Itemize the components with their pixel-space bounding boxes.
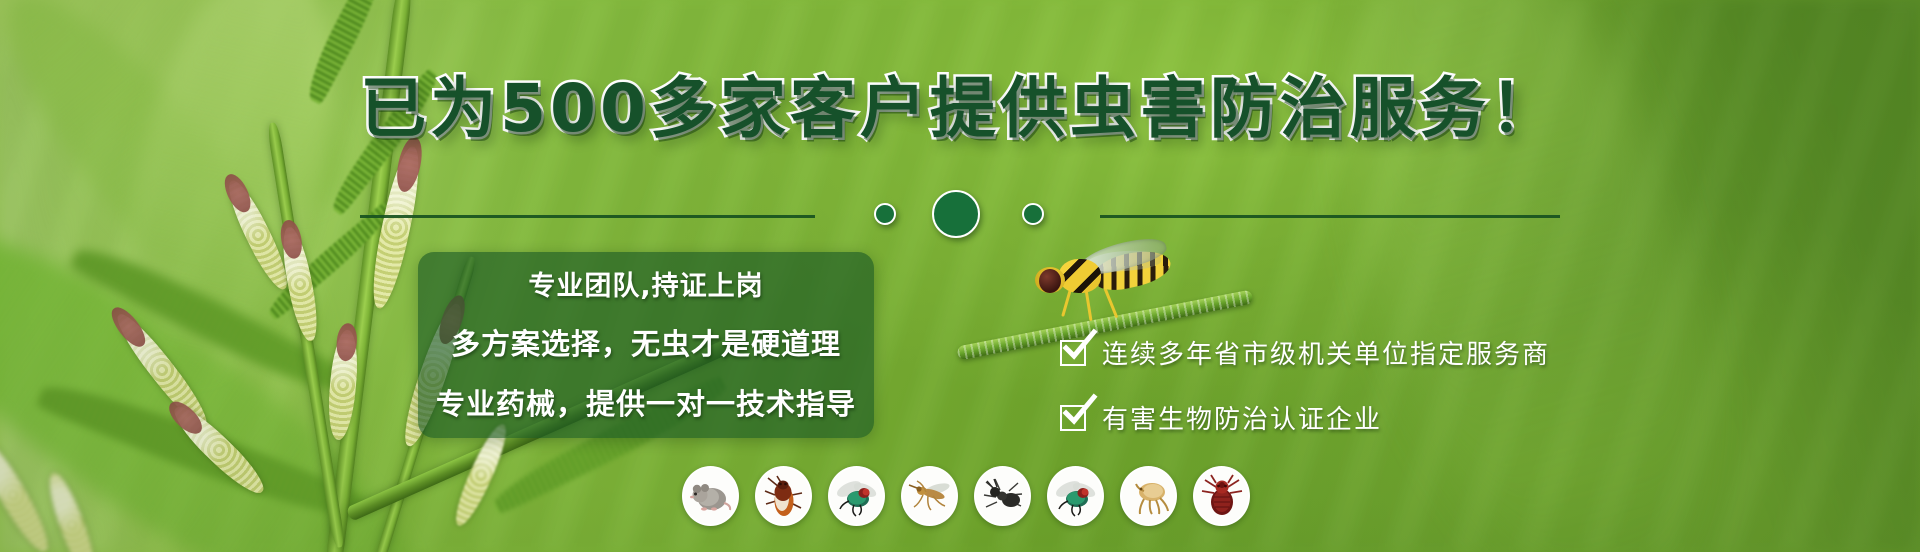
- claim-line-1: 专业团队,持证上岗: [418, 264, 874, 303]
- flea-icon[interactable]: 跳蚤: [1120, 466, 1177, 526]
- mouse-icon[interactable]: 鼠: [682, 466, 739, 526]
- divider-rule-right: [1100, 215, 1560, 218]
- divider-rule-left: [360, 215, 815, 218]
- claim-line-3: 专业药械，提供一对一技术指导: [418, 381, 874, 423]
- checkbox-check-icon: [1060, 340, 1086, 366]
- claim-line-2: 多方案选择，无虫才是硬道理: [418, 321, 874, 363]
- decorative-dots: [870, 190, 1070, 240]
- ant-icon[interactable]: 蚂蚁: [974, 466, 1031, 526]
- decor-dot-small-left: [874, 203, 896, 225]
- hoverfly-insect: [1035, 245, 1165, 315]
- checklist-item-label: 连续多年省市级机关单位指定服务商: [1102, 334, 1550, 371]
- checklist-item: 连续多年省市级机关单位指定服务商: [1060, 334, 1550, 371]
- claims-panel: 专业团队,持证上岗 多方案选择，无虫才是硬道理 专业药械，提供一对一技术指导: [418, 252, 874, 438]
- credentials-checklist: 连续多年省市级机关单位指定服务商 有害生物防治认证企业: [1060, 334, 1550, 464]
- pest-type-icon-row: 鼠 蟑螂: [682, 466, 1250, 526]
- mosquito-icon[interactable]: 蚊: [901, 466, 958, 526]
- decor-dot-large: [932, 190, 980, 238]
- pest-control-hero-banner: 已为500多家客户提供虫害防治服务！ 专业团队,持证上岗 多方案选择，无虫才是硬…: [0, 0, 1920, 552]
- checkbox-check-icon: [1060, 405, 1086, 431]
- fly-icon[interactable]: 苍蝇: [828, 466, 885, 526]
- decor-dot-small-right: [1022, 203, 1044, 225]
- checklist-item-label: 有害生物防治认证企业: [1102, 399, 1382, 436]
- checklist-item: 有害生物防治认证企业: [1060, 399, 1550, 436]
- banner-headline: 已为500多家客户提供虫害防治服务！: [0, 76, 1920, 142]
- fly-icon-2[interactable]: 苍蝇: [1047, 466, 1104, 526]
- cockroach-icon[interactable]: 蟑螂: [755, 466, 812, 526]
- bedbug-icon[interactable]: 臭虫: [1193, 466, 1250, 526]
